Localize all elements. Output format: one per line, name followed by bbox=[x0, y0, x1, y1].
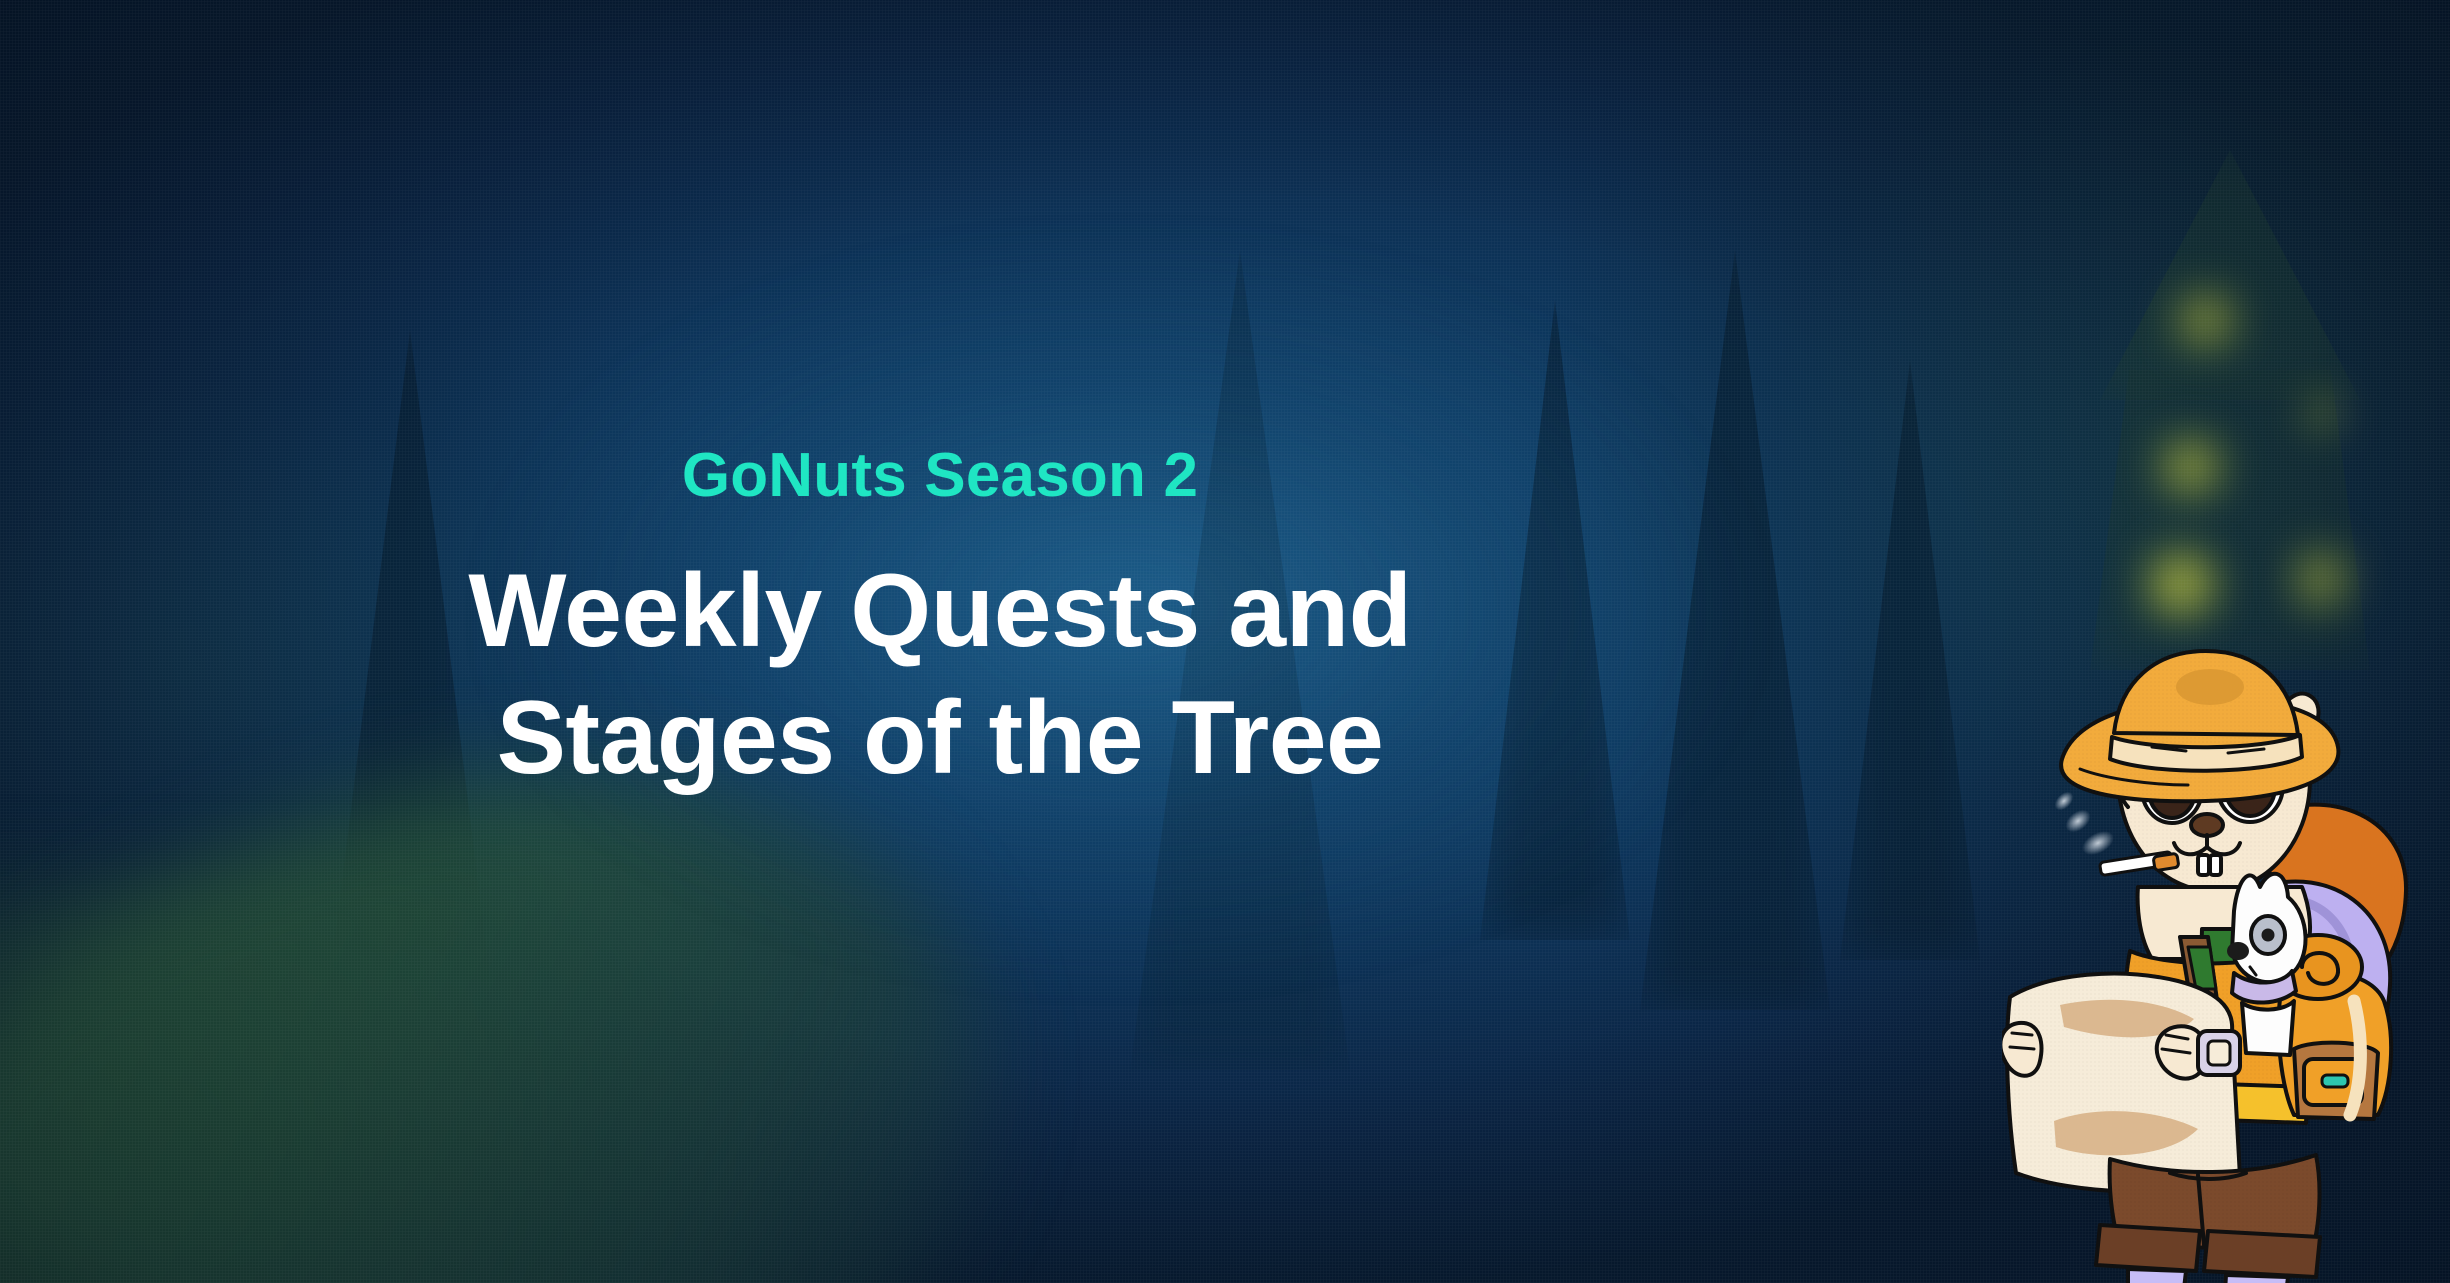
banner-copy: GoNuts Season 2 Weekly Quests and Stages… bbox=[0, 0, 1880, 1283]
glowing-window-icon bbox=[2300, 390, 2346, 436]
glowing-window-icon bbox=[2290, 535, 2352, 623]
season-label: GoNuts Season 2 bbox=[682, 441, 1198, 510]
treehouse-roof bbox=[2100, 150, 2360, 400]
page-title-line-2: Stages of the Tree bbox=[468, 675, 1411, 802]
season-banner: GoNuts Season 2 Weekly Quests and Stages… bbox=[0, 0, 2450, 1283]
page-title: Weekly Quests and Stages of the Tree bbox=[468, 548, 1411, 802]
glowing-window-icon bbox=[2168, 282, 2244, 358]
glowing-window-icon bbox=[2140, 538, 2224, 630]
squirrel-explorer-illustration bbox=[2002, 629, 2422, 1283]
glowing-window-icon bbox=[2152, 428, 2230, 506]
page-title-line-1: Weekly Quests and bbox=[468, 548, 1411, 675]
